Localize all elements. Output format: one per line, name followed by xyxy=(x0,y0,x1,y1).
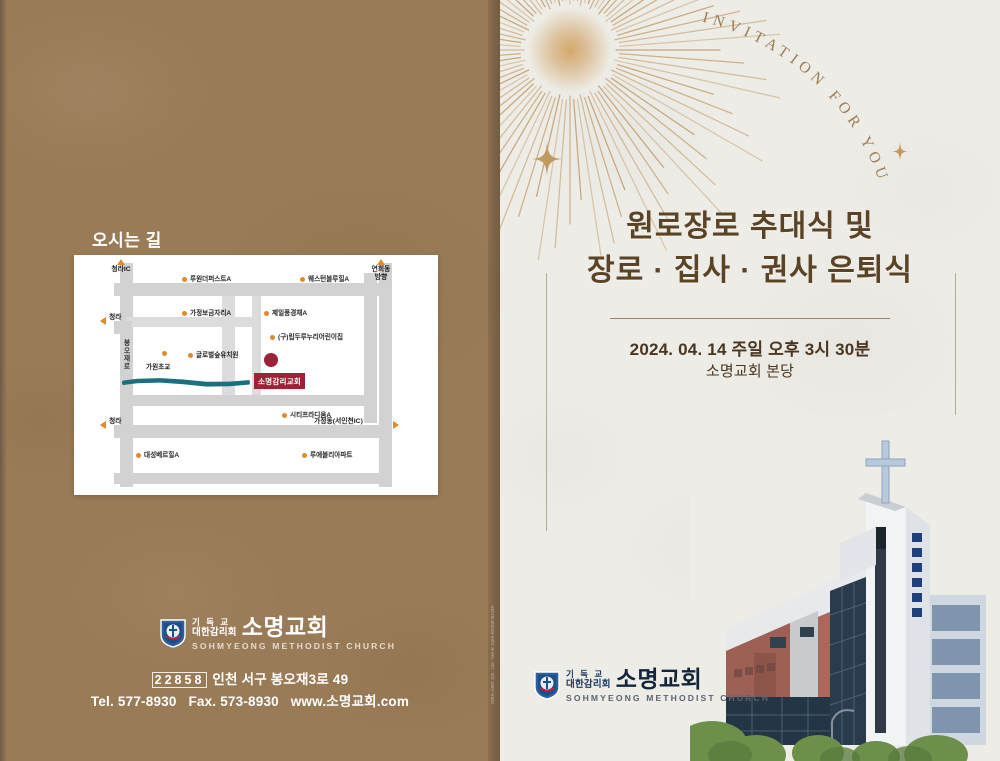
logo-english-name: SOHMYEONG METHODIST CHURCH xyxy=(192,642,396,651)
back-cover-panel: 오시는 길 xyxy=(0,0,500,761)
logo-english-name: SOHMYEONG METHODIST CHURCH xyxy=(566,694,770,703)
fax-number: 573-8930 xyxy=(220,694,279,709)
tel-label: Tel. xyxy=(91,694,114,709)
poi-label-jeil: 제일풍경채A xyxy=(272,307,307,317)
directions-heading: 오시는 길 xyxy=(92,226,162,251)
logo-wordmark-top: 기 독 교 대한감리회 소명교회 xyxy=(192,616,396,639)
poi-label-city-pradium: 시티프라디움A xyxy=(290,409,331,419)
poi-label-durunuri: (구)립두루누리어린이집 xyxy=(278,331,343,341)
poi-dot xyxy=(302,453,307,458)
road-vertical-main xyxy=(120,263,133,487)
poi-dot xyxy=(182,311,187,316)
poi-label-ruwon: 루원더퍼스트A xyxy=(190,273,231,283)
poi-label-gajeong: 가정보금자리A xyxy=(190,307,231,317)
poi-dot xyxy=(182,277,187,282)
road-horizontal-lower xyxy=(114,425,389,438)
poi-dot xyxy=(136,453,141,458)
triangle-left-icon xyxy=(100,421,106,429)
road-horizontal-bottom xyxy=(114,473,389,484)
poi-label-ruebelly: 루에블리아파트 xyxy=(310,449,352,459)
website-url[interactable]: www.소명교회.com xyxy=(291,694,409,709)
event-title-line-2: 장로 · 집사 · 권사 은퇴식 xyxy=(500,249,1000,293)
event-title-block: 원로장로 추대식 및 장로 · 집사 · 권사 은퇴식 xyxy=(500,205,1000,294)
fax-label: Fax. xyxy=(188,694,216,709)
road-horizontal-2 xyxy=(126,317,256,327)
road-horizontal-mid xyxy=(126,395,374,406)
poi-dot xyxy=(270,335,275,340)
shield-cross-icon xyxy=(160,618,186,648)
logo-denomination-lines: 기 독 교 대한감리회 xyxy=(192,617,237,639)
triangle-up-icon xyxy=(377,259,385,265)
triangle-right-icon xyxy=(393,421,399,429)
triangle-left-icon xyxy=(100,317,106,325)
postal-code: 22858 xyxy=(152,672,208,688)
footer-logo-right: 기 독 교 대한감리회 소명교회 SOHMYEONG METHODIST CHU… xyxy=(534,668,770,703)
ic-cheongra-left-2: 청라 xyxy=(109,418,122,425)
ic-cheongra-ic: 청라IC xyxy=(101,259,141,273)
poi-dot xyxy=(300,277,305,282)
logo-church-name: 소명교회 xyxy=(242,616,329,639)
poi-label-global-forest: 글로벌숲유치원 xyxy=(196,349,238,359)
title-divider-rule xyxy=(610,318,890,319)
poi-dot xyxy=(188,353,193,358)
left-vertical-rule xyxy=(546,273,547,531)
logo-wordmark: 기 독 교 대한감리회 소명교회 SOHMYEONG METHODIST CHU… xyxy=(192,616,396,651)
church-location-dot xyxy=(264,353,278,367)
ic-gajeongdong-seoincheon: 가정동(서인천IC) xyxy=(314,418,363,425)
ic-yeonhui-direction: 연희동방향 xyxy=(359,259,403,282)
invitation-spread: 오시는 길 xyxy=(0,0,1000,761)
event-venue: 소명교회 본당 xyxy=(500,360,1000,381)
sparkle-star-icon xyxy=(532,142,562,176)
tel-number[interactable]: 577-8930 xyxy=(118,694,177,709)
logo-wordmark-top: 기 독 교 대한감리회 소명교회 xyxy=(566,668,770,691)
road-horizontal-top xyxy=(114,283,389,296)
footer-contact-line: Tel. 577-8930 Fax. 573-8930 www.소명교회.com xyxy=(0,690,500,710)
logo-line-methodist-kr: 대한감리회 xyxy=(192,628,237,639)
map-canvas: 청라IC 연희동방향 청라 청라 가정동(서인천IC) 봉오재로 루원더퍼스트A xyxy=(74,255,438,495)
road-name-bongojae: 봉오재로 xyxy=(120,339,130,370)
poi-dot xyxy=(264,311,269,316)
location-map-card[interactable]: 청라IC 연희동방향 청라 청라 가정동(서인천IC) 봉오재로 루원더퍼스트A xyxy=(74,255,438,495)
poi-label-daesung: 대성베르힐A xyxy=(144,449,179,459)
shield-cross-icon xyxy=(534,670,560,700)
poi-label-gawon-elementary: 가원초교 xyxy=(146,361,170,371)
road-vertical-2 xyxy=(222,285,235,395)
church-marker-label: 소명감리교회 xyxy=(254,373,305,389)
triangle-up-icon xyxy=(117,259,125,265)
event-datetime: 2024. 04. 14 주일 오후 3시 30분 xyxy=(500,335,1000,360)
logo-church-name: 소명교회 xyxy=(616,668,703,691)
logo-wordmark: 기 독 교 대한감리회 소명교회 SOHMYEONG METHODIST CHU… xyxy=(566,668,770,703)
spine-fineprint: 소명교회 원로장로 추대식 및 장로 · 집사 · 권사 은퇴식 초청장 xyxy=(472,598,494,710)
logo-denomination-lines: 기 독 교 대한감리회 xyxy=(566,669,611,691)
arc-text-label: INVITATION FOR YOU xyxy=(701,9,893,186)
street-address: 인천 서구 봉오재3로 49 xyxy=(212,672,348,687)
poi-dot xyxy=(282,413,287,418)
footer-address-line: 22858인천 서구 봉오재3로 49 xyxy=(0,668,500,688)
event-title-line-1: 원로장로 추대식 및 xyxy=(500,205,1000,249)
logo-line-methodist-kr: 대한감리회 xyxy=(566,680,611,691)
church-building-photo xyxy=(690,415,1000,761)
road-horizontal-cheongra1 xyxy=(114,321,132,334)
poi-label-western: 웨스턴블루힐A xyxy=(308,273,349,283)
poi-dot xyxy=(162,351,167,356)
ic-cheongra-left-1: 청라 xyxy=(109,314,122,321)
footer-logo-left: 기 독 교 대한감리회 소명교회 SOHMYEONG METHODIST CHU… xyxy=(160,616,396,651)
page-left-edge-shadow xyxy=(0,0,6,761)
road-vertical-right xyxy=(379,263,392,487)
